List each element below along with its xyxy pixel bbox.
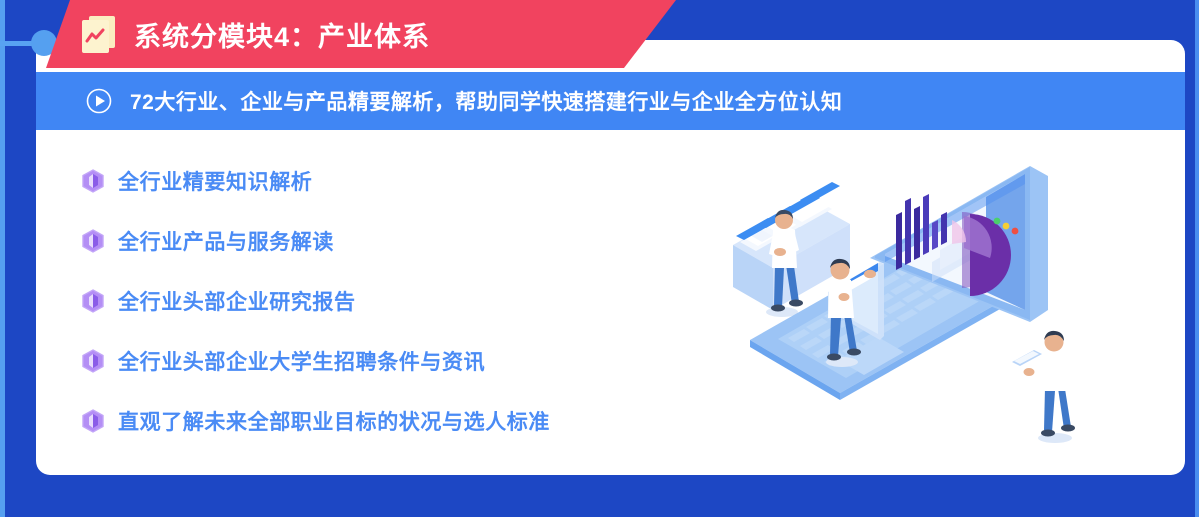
chart-document-icon <box>80 15 118 53</box>
list-item-label: 直观了解未来全部职业目标的状况与选人标准 <box>118 406 550 436</box>
hexagon-gem-icon <box>82 169 104 193</box>
list-item[interactable]: 直观了解未来全部职业目标的状况与选人标准 <box>82 406 702 436</box>
backdrop-right-edge <box>1195 0 1199 517</box>
page-title: 系统分模块4：产业体系 <box>134 15 430 54</box>
list-item[interactable]: 全行业头部企业大学生招聘条件与资讯 <box>82 346 702 376</box>
list-item-label: 全行业头部企业大学生招聘条件与资讯 <box>118 346 485 376</box>
hexagon-gem-icon <box>82 229 104 253</box>
person-with-tablet-right-icon <box>1012 331 1075 443</box>
hexagon-gem-icon <box>82 289 104 313</box>
list-item[interactable]: 全行业头部企业研究报告 <box>82 286 702 316</box>
isometric-business-analytics-illustration <box>700 150 1120 470</box>
backdrop-left-edge <box>0 0 5 517</box>
list-item-label: 全行业精要知识解析 <box>118 166 312 196</box>
subtitle-text: 72大行业、企业与产品精要解析，帮助同学快速搭建行业与企业全方位认知 <box>130 86 842 116</box>
list-item-label: 全行业头部企业研究报告 <box>118 286 356 316</box>
hexagon-gem-icon <box>82 409 104 433</box>
list-item[interactable]: 全行业产品与服务解读 <box>82 226 702 256</box>
subtitle-bar: 72大行业、企业与产品精要解析，帮助同学快速搭建行业与企业全方位认知 <box>36 72 1185 130</box>
header-banner: 系统分模块4：产业体系 <box>46 0 676 68</box>
feature-list: 全行业精要知识解析 全行业产品与服务解读 <box>82 166 702 466</box>
slide-canvas: 系统分模块4：产业体系 72大行业、企业与产品精要解析，帮助同学快速搭建行业与企… <box>0 0 1199 517</box>
list-item[interactable]: 全行业精要知识解析 <box>82 166 702 196</box>
play-circle-icon <box>86 88 112 114</box>
hexagon-gem-icon <box>82 349 104 373</box>
list-item-label: 全行业产品与服务解读 <box>118 226 334 256</box>
